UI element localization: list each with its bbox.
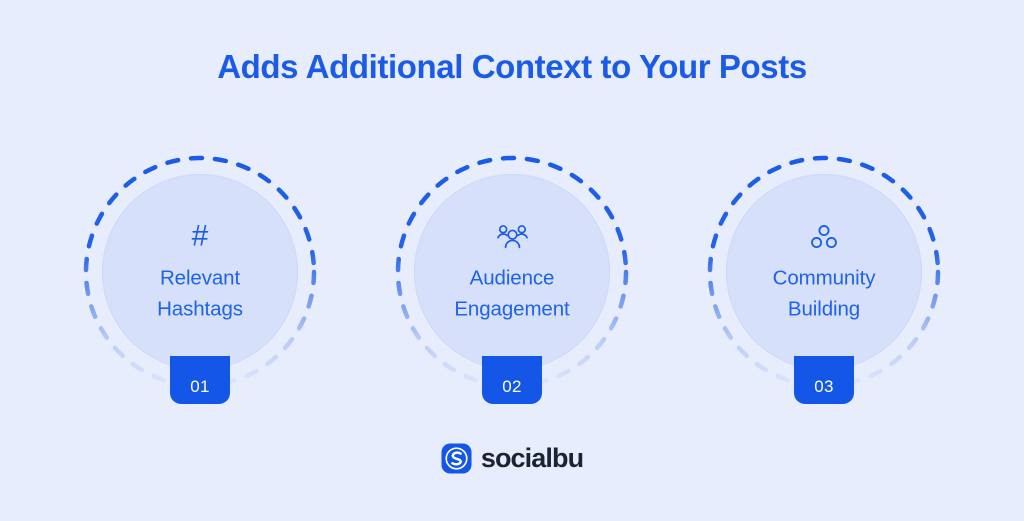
card-label: Audience Engagement (428, 262, 596, 324)
card-label: Community Building (740, 262, 908, 324)
card-disc: Audience Engagement (414, 174, 610, 370)
card-content: # Relevant Hashtags (102, 219, 298, 324)
page-title: Adds Additional Context to Your Posts (0, 47, 1024, 87)
brand-footer: socialbu (0, 443, 1024, 474)
card-content: Community Building (726, 219, 922, 324)
card-disc: # Relevant Hashtags (102, 174, 298, 370)
card-number: 02 (502, 378, 522, 395)
cards-row: # Relevant Hashtags 01 (0, 155, 1024, 405)
card-label: Relevant Hashtags (116, 262, 284, 324)
people-group-icon (428, 219, 596, 253)
card-number-tab: 03 (794, 356, 854, 404)
card-label-line2: Building (740, 294, 908, 325)
card-item[interactable]: Community Building 03 (694, 155, 954, 405)
card-item[interactable]: # Relevant Hashtags 01 (70, 155, 330, 405)
card-number-tab: 01 (170, 356, 230, 404)
card-number: 03 (814, 378, 834, 395)
card-label-line2: Engagement (428, 294, 596, 325)
card-item[interactable]: Audience Engagement 02 (382, 155, 642, 405)
card-label-line1: Relevant (160, 266, 240, 289)
card-label-line1: Audience (470, 266, 555, 289)
card-label-line2: Hashtags (116, 294, 284, 325)
card-content: Audience Engagement (414, 219, 610, 324)
infographic-canvas: Adds Additional Context to Your Posts (0, 0, 1024, 521)
three-circles-icon (740, 219, 908, 253)
socialbu-logo-icon (441, 443, 472, 474)
card-number-tab: 02 (482, 356, 542, 404)
card-label-line1: Community (773, 266, 876, 289)
hashtag-icon: # (116, 219, 284, 253)
card-number: 01 (190, 378, 210, 395)
card-disc: Community Building (726, 174, 922, 370)
brand-name: socialbu (481, 445, 583, 472)
